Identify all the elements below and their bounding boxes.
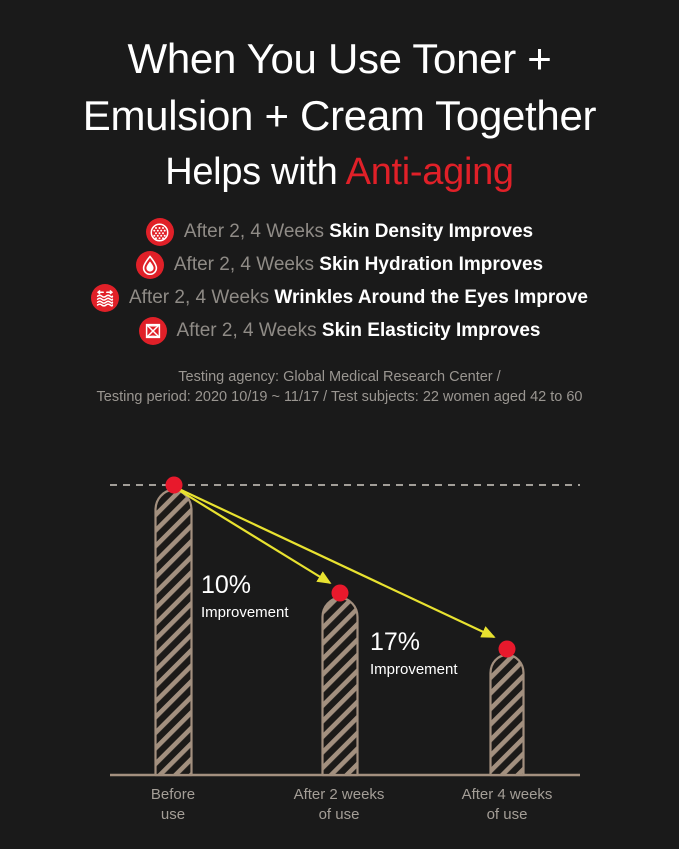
improvement-arrow-2-weeks [177, 489, 330, 583]
annotation-percent-10: 10% [201, 571, 251, 599]
annotation-label-17: Improvement [370, 661, 458, 678]
benefit-prefix: After 2, 4 Weeks [129, 287, 274, 308]
annotation-label-10: Improvement [201, 604, 289, 621]
title-line-2: Emulsion + Cream Together [0, 87, 679, 144]
title-line-3-prefix: Helps with [165, 151, 345, 193]
benefit-text-wrinkles: After 2, 4 Weeks Wrinkles Around the Eye… [129, 287, 588, 309]
footnote-line-2: Testing period: 2020 10/19 ~ 11/17 / Tes… [0, 387, 679, 407]
benefit-prefix: After 2, 4 Weeks [177, 320, 322, 341]
benefit-text-skin-hydration: After 2, 4 Weeks Skin Hydration Improves [174, 254, 543, 276]
benefit-row-wrinkles: After 2, 4 Weeks Wrinkles Around the Eye… [91, 284, 588, 312]
improvement-bar-chart: 10% Improvement 17% Improvement Before u… [0, 465, 679, 849]
benefit-main: Skin Hydration Improves [319, 254, 543, 275]
benefit-row-skin-hydration: After 2, 4 Weeks Skin Hydration Improves [136, 251, 543, 279]
data-point-after-2-weeks [332, 585, 349, 602]
benefit-prefix: After 2, 4 Weeks [174, 254, 319, 275]
x-label-after-2-weeks-line1: After 2 weeks [294, 786, 385, 803]
data-point-before-use [166, 477, 183, 494]
benefit-text-skin-elasticity: After 2, 4 Weeks Skin Elasticity Improve… [177, 320, 541, 342]
page-title: When You Use Toner + Emulsion + Cream To… [0, 0, 679, 200]
data-point-after-4-weeks [499, 641, 516, 658]
chart-bar-after-4-weeks [491, 655, 524, 775]
benefit-text-skin-density: After 2, 4 Weeks Skin Density Improves [184, 221, 533, 243]
title-line-1: When You Use Toner + [0, 30, 679, 87]
water-drop-icon [136, 251, 164, 279]
skin-density-icon [146, 218, 174, 246]
footnote-line-1: Testing agency: Global Medical Research … [0, 367, 679, 387]
x-label-before-use-line1: Before [151, 786, 195, 803]
wrinkle-waves-icon [91, 284, 119, 312]
benefit-row-skin-density: After 2, 4 Weeks Skin Density Improves [146, 218, 533, 246]
benefit-main: Wrinkles Around the Eyes Improve [274, 287, 588, 308]
x-label-after-4-weeks-line1: After 4 weeks [462, 786, 553, 803]
study-footnote: Testing agency: Global Medical Research … [0, 367, 679, 407]
benefit-main: Skin Elasticity Improves [322, 320, 541, 341]
x-label-before-use-line2: use [161, 806, 185, 823]
benefit-prefix: After 2, 4 Weeks [184, 221, 329, 242]
chart-bar-before-use [156, 490, 192, 775]
x-label-after-2-weeks-line2: of use [319, 806, 360, 823]
annotation-percent-17: 17% [370, 628, 420, 656]
title-line-3: Helps with Anti-aging [0, 144, 679, 200]
title-accent-anti-aging: Anti-aging [346, 151, 514, 193]
benefit-main: Skin Density Improves [329, 221, 533, 242]
chart-bar-after-2-weeks [323, 598, 358, 775]
benefit-row-skin-elasticity: After 2, 4 Weeks Skin Elasticity Improve… [139, 317, 541, 345]
elasticity-icon [139, 317, 167, 345]
x-label-after-4-weeks-line2: of use [487, 806, 528, 823]
benefits-list: After 2, 4 Weeks Skin Density Improves A… [0, 218, 679, 345]
